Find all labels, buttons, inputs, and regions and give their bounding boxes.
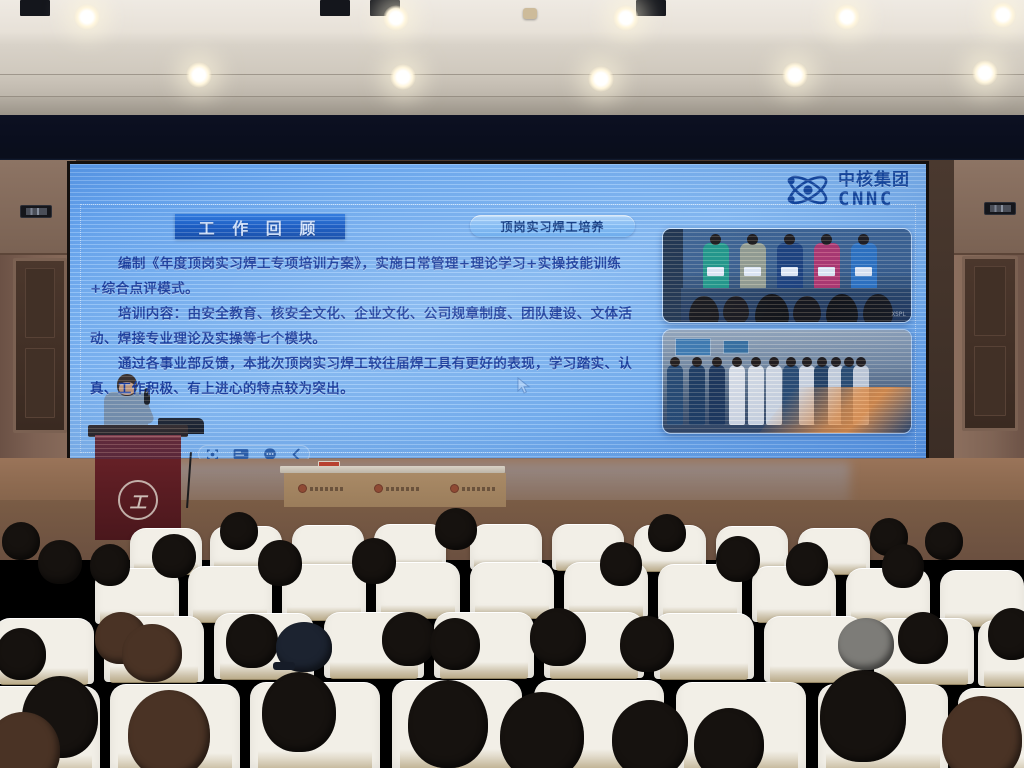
workshop-line-up-photo [662,329,912,434]
ceiling-downlight [613,5,639,31]
attendee-head [408,680,488,768]
table-emblem [298,484,344,493]
led-presentation-screen[interactable]: 中核集团 CNNC 工 作 回 顾 顶岗实习焊工培养 编制《年度顶岗实习焊工专项… [67,161,929,461]
attendee-head [226,614,278,668]
table-emblem [374,484,420,493]
ceiling-vent [636,0,666,16]
slide-floating-toolbar[interactable] [198,445,310,459]
attendee-head [382,612,436,666]
cnnc-logo: 中核集团 CNNC [785,170,910,210]
attendee-head [0,628,46,680]
ceiling-downlight [390,64,416,90]
cnnc-english-name: CNNC [838,190,910,209]
scan-focus-icon[interactable] [206,448,219,460]
slide-subtitle: 顶岗实习焊工培养 [500,218,604,235]
attendee-head [128,690,210,768]
attendee-head [820,670,906,762]
exit-sign-right [984,202,1016,215]
attendee-head [612,700,688,768]
left-exit-door[interactable] [13,258,67,433]
ceiling-downlight [186,62,212,88]
slide-paragraph-2: 培训内容：由安全教育、核安全文化、企业文化、公司规章制度、团队建设、文体活动、焊… [90,302,635,352]
attendee-head [122,624,182,682]
mouse-cursor [517,377,531,395]
attendee-head [898,612,948,664]
ceiling-downlight [972,60,998,86]
attendee-head [352,538,396,584]
attendee-head [716,536,760,582]
attendee-head [838,618,894,670]
audience-seating [0,500,1024,768]
attendee-head [220,512,258,550]
attendee-head [882,544,924,588]
ceiling-downlight [782,62,808,88]
attendee-head [786,542,828,586]
more-options-icon[interactable] [263,447,277,459]
ceiling-downlight [990,2,1016,28]
ceiling-downlight [74,4,100,30]
slide-title: 工 作 回 顾 [199,215,322,239]
ceiling [0,0,1024,75]
classroom-award-ceremony-photo: XSPL [662,228,912,323]
auditorium-photo: 中核集团 CNNC 工 作 回 顾 顶岗实习焊工培养 编制《年度顶岗实习焊工专项… [0,0,1024,768]
attendee-head [430,618,480,670]
back-arrow-icon[interactable] [291,448,302,460]
attendee-head [648,514,686,552]
attendee-head [530,608,586,666]
attendee-head [988,608,1024,660]
slide-subtitle-pill: 顶岗实习焊工培养 [470,215,635,237]
attendee-head [2,522,40,560]
attendee-head [152,534,196,578]
attendee-head [620,616,674,672]
attendee-head [90,544,130,586]
ceiling-downlight [383,5,409,31]
attendee-head [435,508,477,550]
chair[interactable] [470,562,554,618]
ceiling-band-lower [0,97,1024,115]
smoke-detector-icon [523,8,537,19]
card-icon[interactable] [233,448,249,459]
ceiling-vent [20,0,50,16]
attendee-head [258,540,302,586]
exit-sign-left [20,205,52,218]
slide-paragraph-3: 通过各事业部反馈，本批次顶岗实习焊工较往届焊工具有更好的表现，学习踏实、认真、工… [90,352,635,402]
ceiling-band [0,75,1024,97]
ceiling-vent [320,0,350,16]
slide-title-bar: 工 作 回 顾 [175,214,345,239]
ceiling-downlight [834,4,860,30]
slide-body: 编制《年度顶岗实习焊工专项培训方案》，实施日常管理+理论学习+实操技能训练+综合… [90,252,635,402]
ceiling-downlight [588,66,614,92]
cnnc-chinese-name: 中核集团 [838,172,910,189]
attendee-head-with-cap [276,622,332,672]
attendee-head [262,672,336,752]
table-emblem [450,484,496,493]
attendee-head [925,522,963,560]
slide-surface: 中核集团 CNNC 工 作 回 顾 顶岗实习焊工培养 编制《年度顶岗实习焊工专项… [70,164,926,459]
attendee-head [600,542,642,586]
slide-paragraph-1: 编制《年度顶岗实习焊工专项培训方案》，实施日常管理+理论学习+实操技能训练+综合… [90,252,635,302]
right-exit-door[interactable] [962,256,1018,431]
cnnc-atom-icon [785,170,831,210]
front-table-top [280,466,505,473]
photo-watermark: XSPL [892,311,906,318]
attendee-head [38,540,82,584]
